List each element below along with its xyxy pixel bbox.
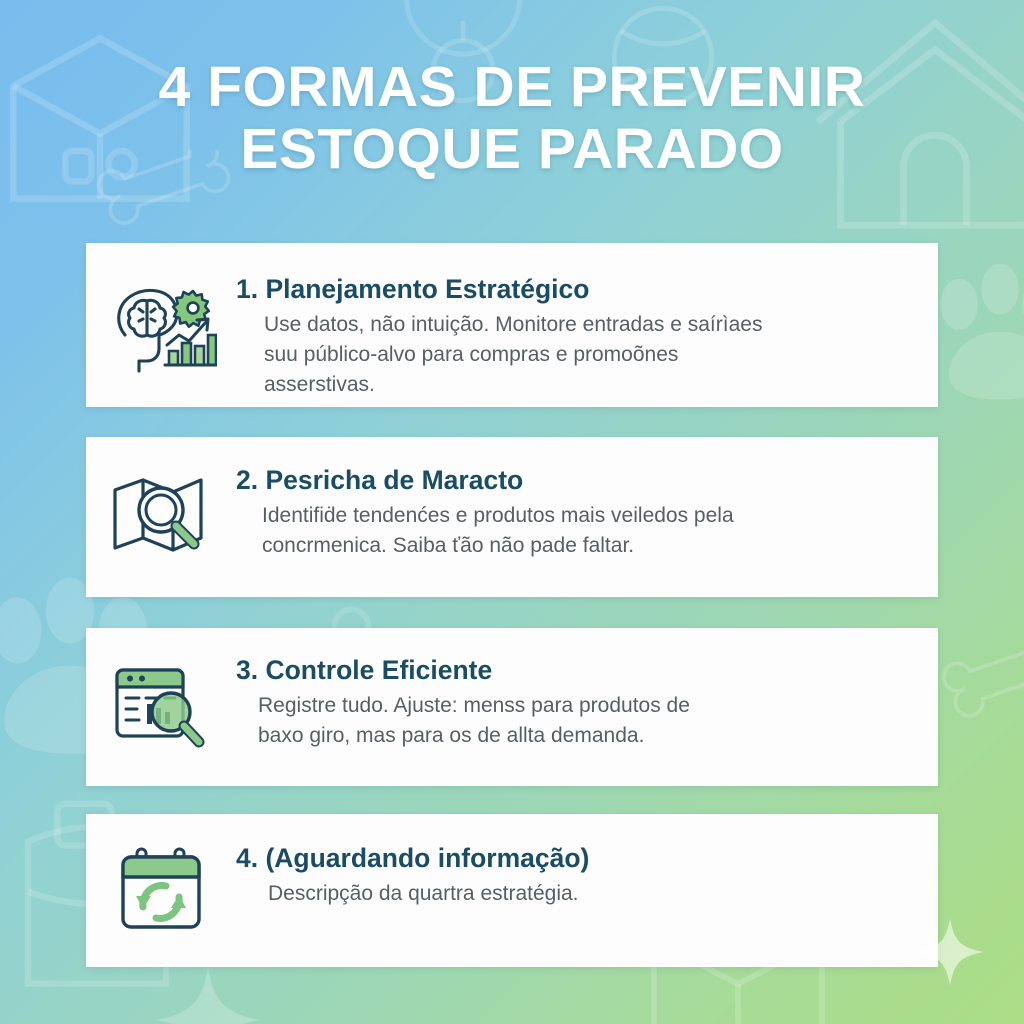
sparkle-watermark-icon [148,960,268,1024]
bone-watermark-icon [940,640,1024,735]
card-4-heading: 4. (Aguardando informação) [236,842,892,875]
strategy-card-4: 4. (Aguardando informação) Descripção da… [86,814,938,967]
card-3-description: Registre tudo. Ajuste: menss para produt… [236,691,738,751]
card-4-description: Descripção da quartra estratégia. [236,879,892,909]
poster-title: 4 FORMAS DE PREVENIR ESTOQUE PARADO [0,56,1024,180]
card-3-icon-slot [86,662,236,752]
card-1-body: 1. Planejamento Estratégico Use datos, n… [236,243,938,400]
card-1-icon-slot [86,275,236,375]
infographic-poster: 4 FORMAS DE PREVENIR ESTOQUE PARADO [0,0,1024,1024]
map-magnifier-icon [109,472,213,562]
card-2-heading: 2. Pesricha de Maracto [236,464,892,497]
card-2-body: 2. Pesricha de Maracto Identifiḋe tenden… [236,437,938,561]
card-3-heading: 3. Controle Eficiente [236,654,892,687]
card-1-description: Use datos, não intuição. Monitore entrad… [236,310,764,400]
strategy-card-2: 2. Pesricha de Maracto Identifiḋe tenden… [86,437,938,597]
strategy-card-3: 3. Controle Eficiente Registre tudo. Aju… [86,628,938,786]
card-2-description: Identifiḋe tendenćes e produtos mais vei… [236,501,772,561]
brain-head-gear-growth-chart-icon [105,279,217,375]
strategy-card-1: 1. Planejamento Estratégico Use datos, n… [86,243,938,407]
calendar-refresh-icon [113,845,209,937]
gear-icon [173,291,209,327]
title-line-2: ESTOQUE PARADO [0,118,1024,180]
title-line-1: 4 FORMAS DE PREVENIR [0,56,1024,118]
card-3-body: 3. Controle Eficiente Registre tudo. Aju… [236,628,938,751]
card-4-body: 4. (Aguardando informação) Descripção da… [236,814,938,909]
document-window-magnifier-icon [109,662,213,752]
card-4-icon-slot [86,845,236,937]
magnifier-icon [139,488,194,544]
card-1-heading: 1. Planejamento Estratégico [236,273,892,306]
card-2-icon-slot [86,472,236,562]
